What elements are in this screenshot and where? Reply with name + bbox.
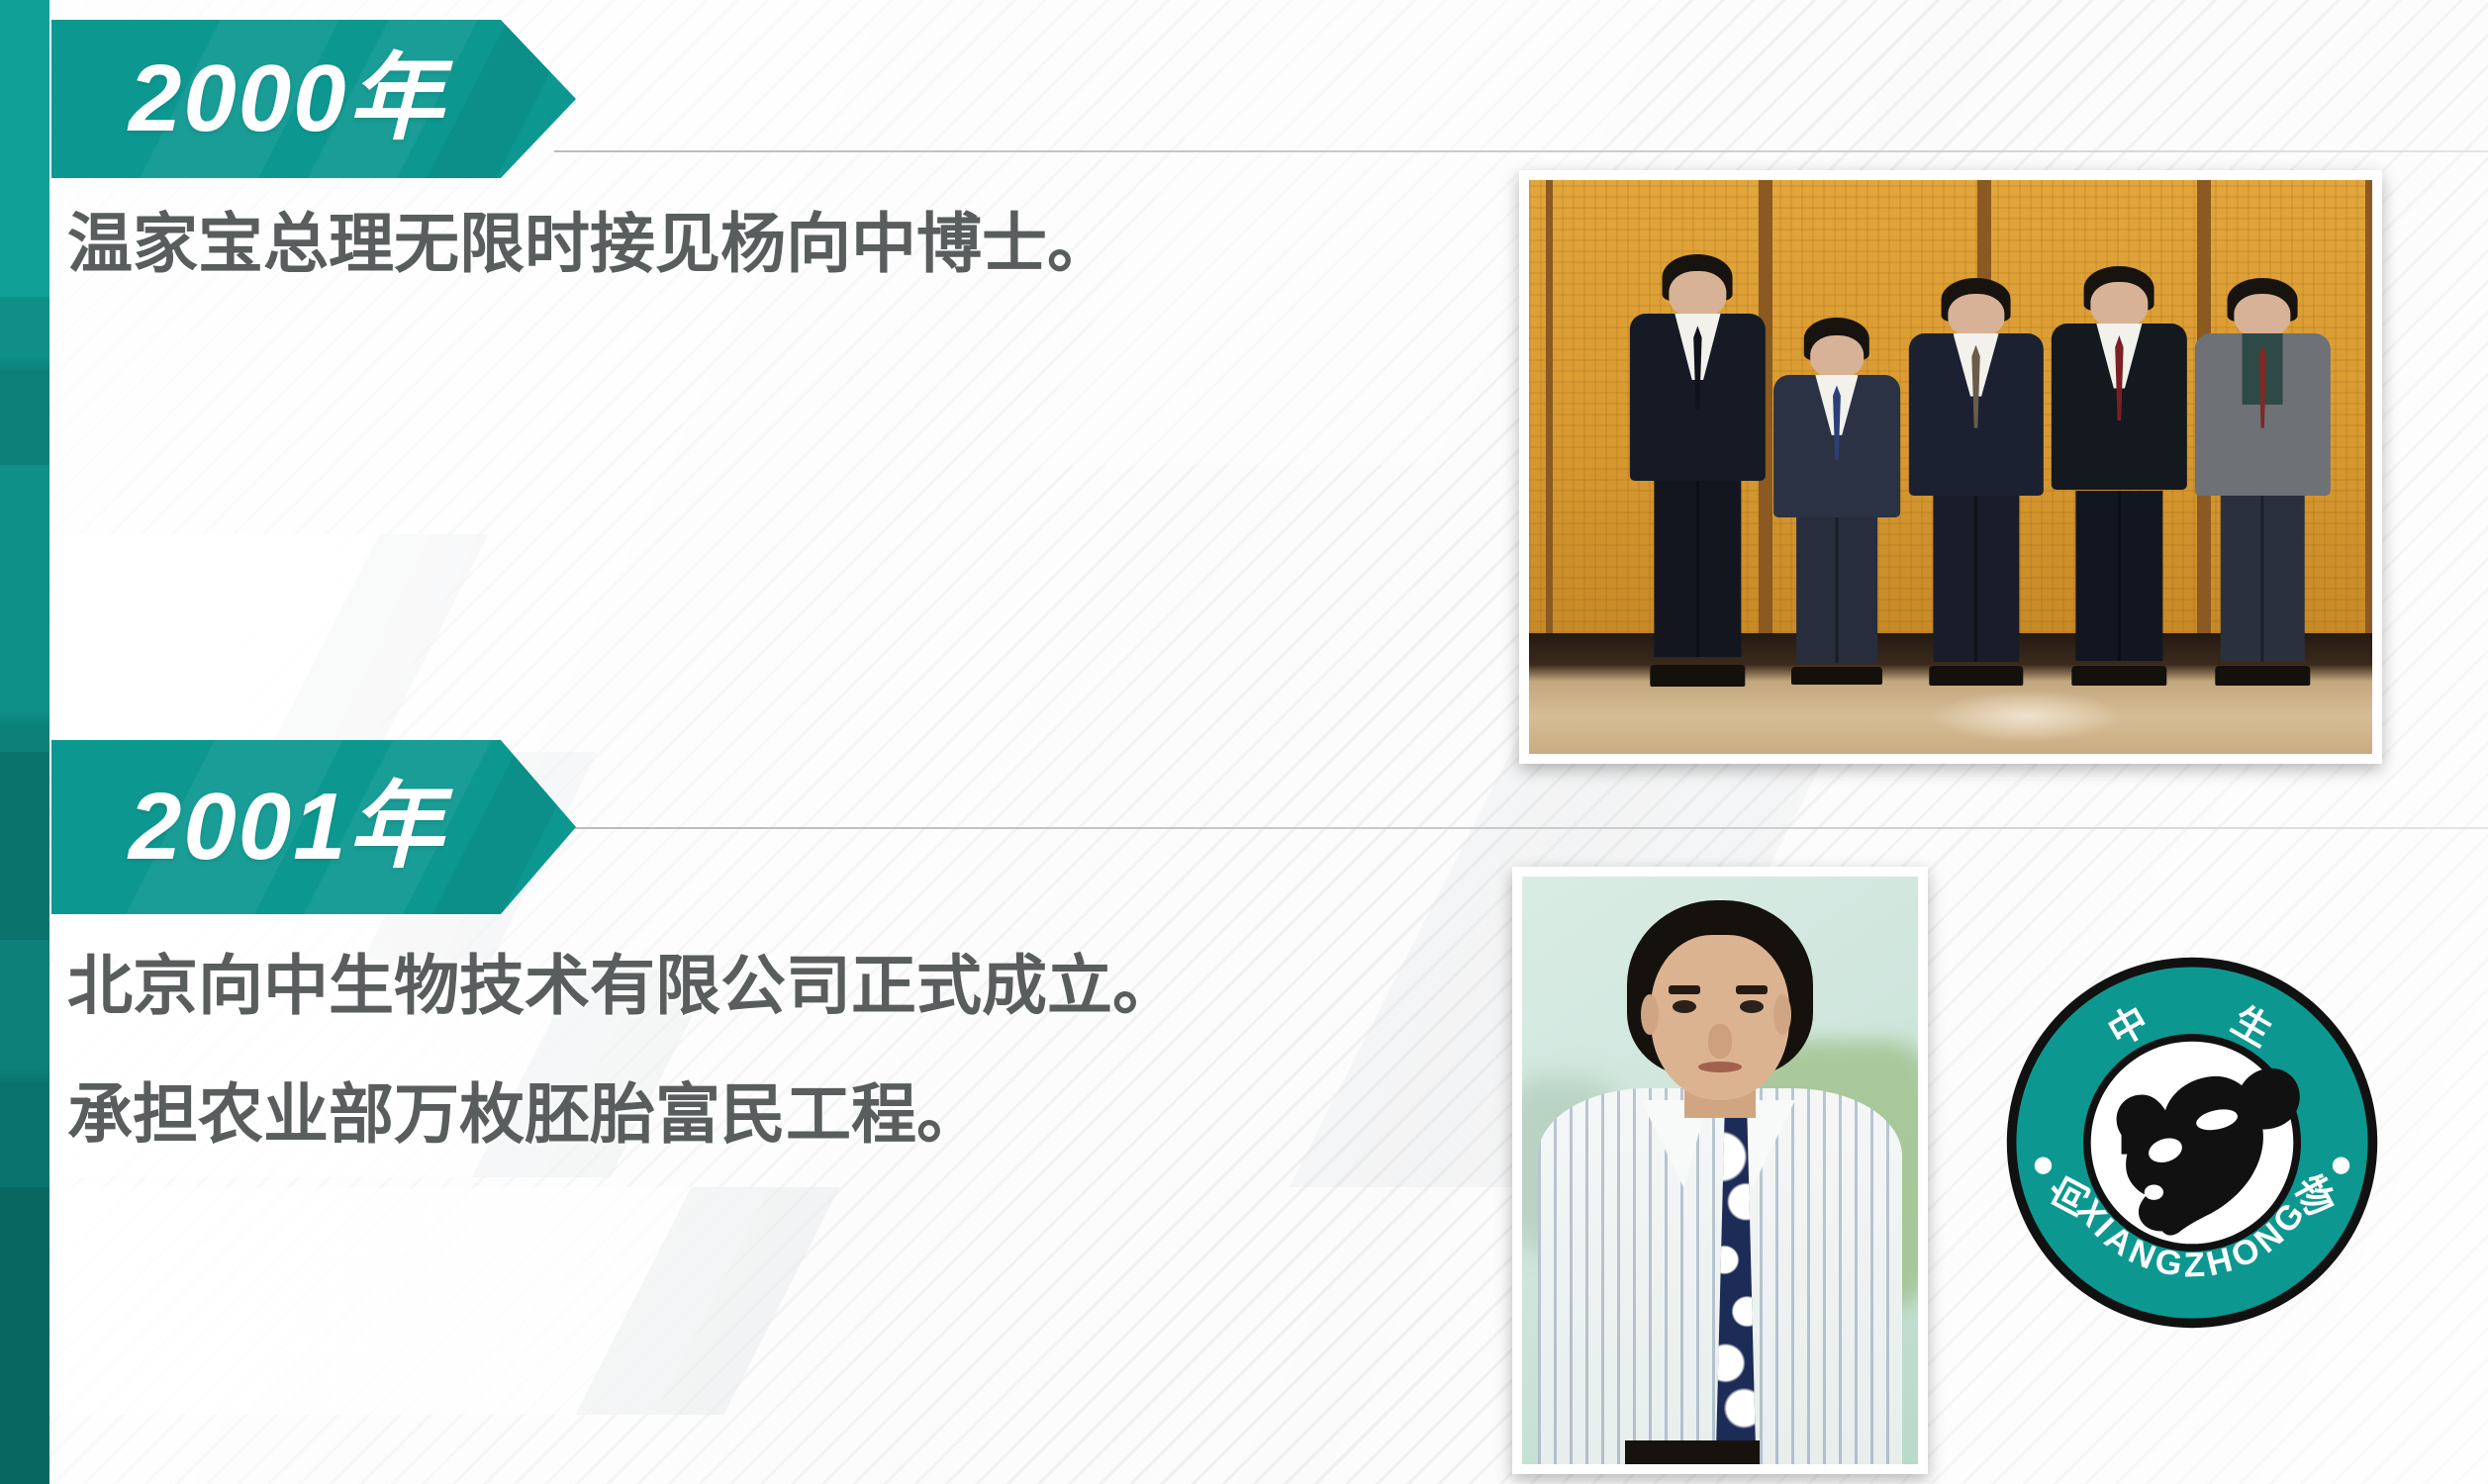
portrait-eye-left: [1673, 1000, 1696, 1013]
slide-canvas: 2000年 温家宝总理无限时接见杨向中博士。: [0, 0, 2488, 1484]
portrait-brow-right: [1736, 985, 1768, 995]
logo-dot-right: [2333, 1157, 2349, 1173]
year-banner-2001: 2001年: [51, 740, 576, 914]
portrait-ear-right: [1773, 994, 1791, 1036]
portrait-face: [1651, 935, 1789, 1099]
entry-2001-line-2: 承担农业部万枚胚胎富民工程。: [67, 1080, 982, 1149]
portrait-ear-left: [1641, 994, 1659, 1036]
entry-2001-line-1: 北京向中生物技术有限公司正式成立。: [67, 952, 1178, 1020]
banner-rule-2000: [554, 150, 2488, 152]
portrait-photo-dr-yang: [1512, 867, 1928, 1474]
portrait-nose: [1708, 1024, 1732, 1060]
portrait-eye-right: [1740, 1000, 1764, 1013]
logo-dot-left: [2035, 1157, 2052, 1173]
year-banner-2000: 2000年: [51, 20, 576, 178]
photo-person-1: [1630, 254, 1765, 673]
decor-chevron-8: [575, 1187, 839, 1415]
rail-segment-3: [0, 1187, 49, 1484]
decor-chevron-1: [0, 534, 479, 742]
photo-rug: [1934, 691, 2119, 742]
xiangzhong-company-logo: 向 中 生 物 XIANGZHONG: [2001, 952, 2383, 1334]
year-label-2001: 2001年: [129, 780, 445, 875]
photo-person-4: [2052, 266, 2186, 674]
decor-chevron-7: [0, 1187, 771, 1415]
entry-2000-line-1: 温家宝总理无限时接见杨向中博士。: [67, 210, 1112, 278]
year-label-2000: 2000年: [129, 51, 445, 146]
portrait-brow-left: [1669, 985, 1700, 995]
banner-rule-2001: [554, 827, 2488, 829]
photo-person-3: [1908, 278, 2043, 674]
group-photo-premier-meeting: [1519, 170, 2382, 764]
photo-person-5: [2195, 278, 2330, 674]
decor-chevron-2: [273, 534, 488, 742]
photo-person-2: [1773, 318, 1900, 674]
portrait-mouth: [1698, 1062, 1742, 1072]
left-accent-rail: [0, 0, 49, 1484]
rail-segment-2: [0, 752, 49, 940]
portrait-belt: [1625, 1440, 1760, 1464]
rail-segment-1: [0, 297, 49, 465]
